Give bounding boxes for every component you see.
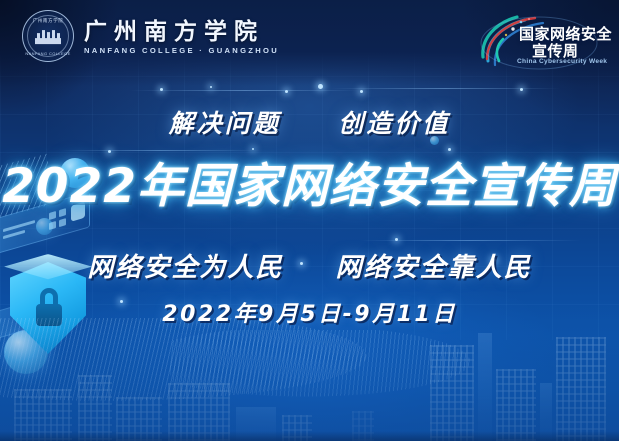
emblem-top-text: 广州南方学院 — [33, 18, 64, 24]
particle-dot — [318, 84, 323, 89]
school-emblem-icon: 广州南方学院 NANFANG COLLEGE — [22, 10, 74, 62]
campaign-logo: 国家网络安全 宣传周 China Cybersecurity Week — [473, 9, 605, 71]
slogan-top-left: 解决问题 — [169, 109, 281, 138]
particle-dot — [360, 90, 363, 93]
accent-line — [60, 150, 260, 151]
campaign-name-en: China Cybersecurity Week — [517, 58, 607, 65]
school-logo: 广州南方学院 NANFANG COLLEGE 广州南方学院 NANFANG CO… — [22, 10, 279, 62]
particle-dot — [108, 150, 111, 153]
accent-line — [130, 90, 360, 91]
particle-dot — [210, 86, 212, 88]
school-name-block: 广州南方学院 NANFANG COLLEGE · GUANGZHOU — [84, 17, 279, 55]
school-name-cn: 广州南方学院 — [84, 20, 279, 43]
emblem-building-icon — [35, 29, 61, 44]
page-title: 2022年国家网络安全宣传周 — [0, 163, 619, 210]
particle-dot — [448, 148, 451, 151]
date-range: 2022年9月5日-9月11日 — [0, 296, 619, 328]
particle-dot — [285, 90, 288, 93]
particle-dot — [160, 88, 163, 91]
slogan-mid: 网络安全为人民 网络安全靠人民 — [0, 247, 619, 284]
slogan-top: 解决问题 创造价值 — [0, 104, 619, 140]
slogan-mid-right: 网络安全靠人民 — [336, 253, 532, 283]
wave-mesh-decoration-2 — [170, 330, 470, 400]
slogan-mid-left: 网络安全为人民 — [87, 253, 283, 283]
cybersecurity-week-poster: 广州南方学院 NANFANG COLLEGE 广州南方学院 NANFANG CO… — [0, 0, 619, 441]
accent-line — [360, 240, 580, 241]
bottom-edge-shadow — [0, 431, 619, 441]
emblem-bottom-text: NANFANG COLLEGE — [25, 51, 70, 56]
particle-dot — [252, 148, 254, 150]
particle-dot — [395, 238, 398, 241]
slogan-top-right: 创造价值 — [338, 109, 450, 138]
school-name-en: NANFANG COLLEGE · GUANGZHOU — [84, 46, 279, 55]
